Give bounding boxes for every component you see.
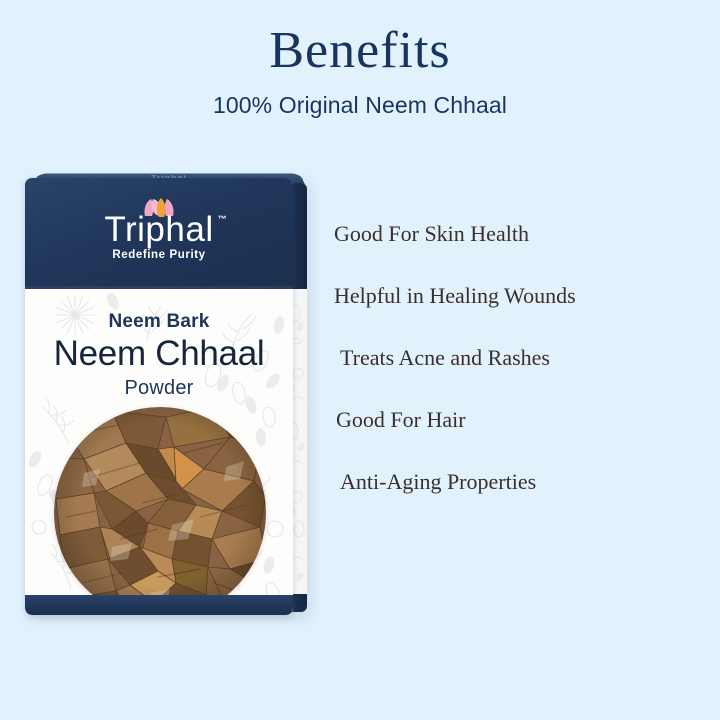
product-kicker: Neem Bark [25, 311, 293, 333]
benefit-label: Helpful in Healing Wounds [334, 283, 576, 309]
benefit-label: Good For Hair [336, 407, 466, 433]
product-package: Triphal [25, 166, 312, 617]
list-item: Good For Hair [334, 389, 700, 451]
package-brand-band: Triphal ™ Redefine Purity [25, 178, 293, 289]
brand-tagline: Redefine Purity [25, 249, 293, 261]
benefit-label: Treats Acne and Rashes [340, 345, 550, 371]
product-name: Neem Chhaal [25, 335, 293, 373]
benefits-list: Good For Skin Health Helpful in Healing … [334, 203, 700, 513]
neem-bark-chips-photo [54, 407, 266, 615]
package-bottom-strip [25, 595, 293, 615]
page-title: Benefits [0, 0, 720, 79]
brand-lockup: Triphal ™ Redefine Purity [25, 196, 293, 261]
benefits-poster: Benefits 100% Original Neem Chhaal Triph… [0, 0, 720, 720]
list-item: Treats Acne and Rashes [334, 327, 700, 389]
list-item: Helpful in Healing Wounds [334, 265, 700, 327]
page-subtitle: 100% Original Neem Chhaal [0, 79, 720, 119]
benefit-label: Good For Skin Health [334, 221, 529, 247]
poster-header: Benefits 100% Original Neem Chhaal [0, 0, 720, 119]
package-label-area: Neem Bark Neem Chhaal Powder [25, 289, 293, 615]
benefit-label: Anti-Aging Properties [340, 469, 536, 495]
brand-name: Triphal [104, 210, 213, 249]
list-item: Anti-Aging Properties [334, 451, 700, 513]
brand-name-row: Triphal ™ [104, 212, 213, 248]
trademark-symbol: ™ [218, 214, 227, 224]
product-form: Powder [25, 377, 293, 400]
list-item: Good For Skin Health [334, 203, 700, 265]
package-front-face: Triphal ™ Redefine Purity [25, 178, 293, 615]
